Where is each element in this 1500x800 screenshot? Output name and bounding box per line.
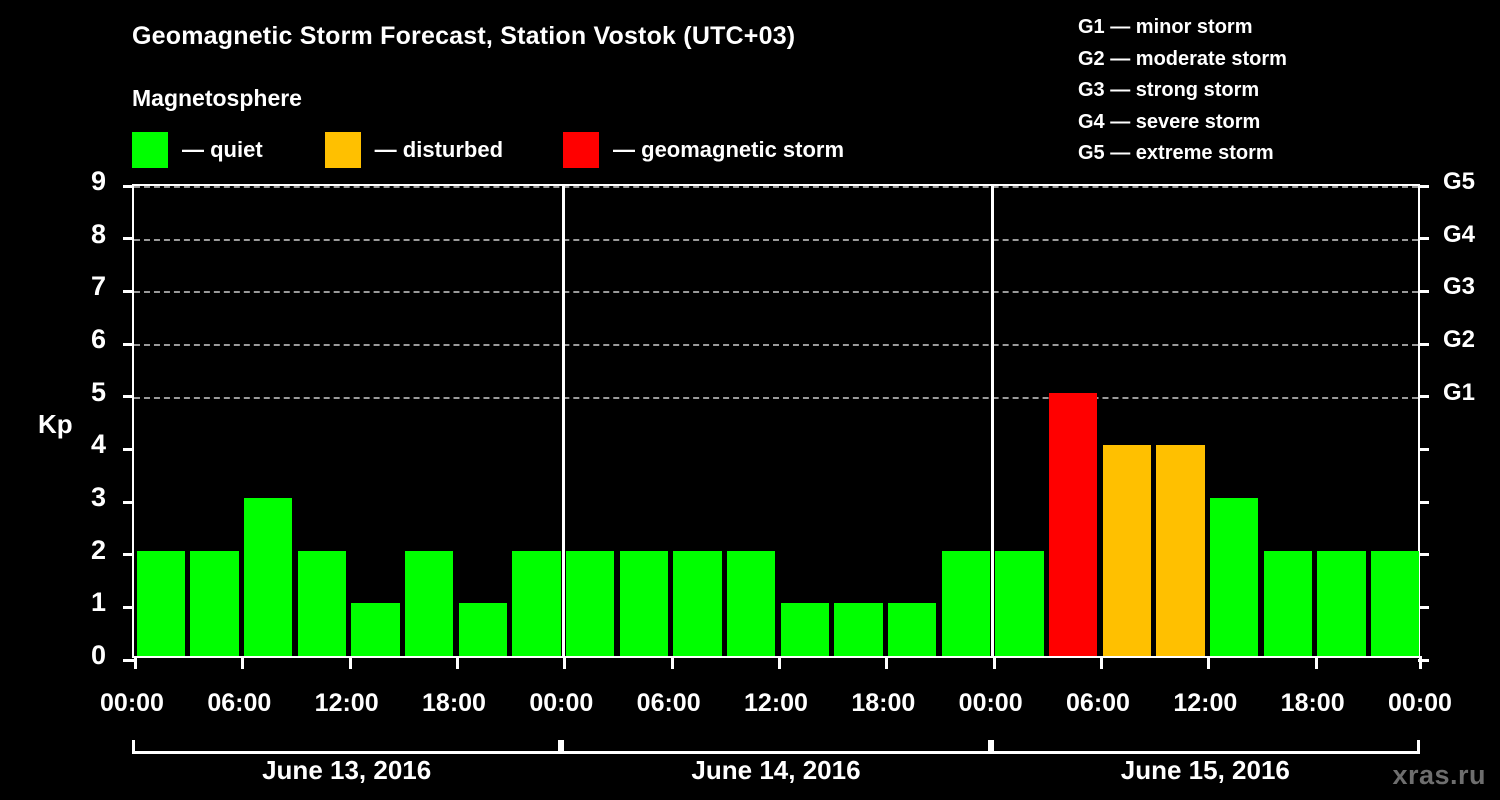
x-tick-10: [1207, 656, 1210, 669]
y-tick-right-3: [1418, 501, 1429, 504]
g-scale-item-g1: G1 — minor storm: [1078, 12, 1287, 44]
day-label-1: June 13, 2016: [132, 755, 561, 786]
bar: [459, 603, 508, 656]
bar: [942, 551, 991, 656]
y-tick-3: [123, 501, 134, 504]
y-tick-6: [123, 343, 134, 346]
bar: [1264, 551, 1313, 656]
g-scale-legend: G1 — minor storm G2 — moderate storm G3 …: [1078, 12, 1287, 170]
y-axis-label-7: 7: [60, 271, 106, 302]
x-tick-11: [1315, 656, 1318, 669]
color-legend: — quiet — disturbed — geomagnetic storm: [132, 131, 844, 169]
x-tick-1: [241, 656, 244, 669]
chart-root: Geomagnetic Storm Forecast, Station Vost…: [0, 0, 1500, 800]
x-tick-5: [671, 656, 674, 669]
bar: [512, 551, 561, 656]
g-scale-item-g5: G5 — extreme storm: [1078, 138, 1287, 170]
g-axis-label-g2: G2: [1443, 326, 1475, 354]
magnetosphere-label: Magnetosphere: [132, 85, 302, 112]
legend-label-disturbed: — disturbed: [375, 137, 503, 163]
bar: [1049, 393, 1098, 656]
bar: [781, 603, 830, 656]
y-tick-5: [123, 395, 134, 398]
bar: [351, 603, 400, 656]
legend-label-quiet: — quiet: [182, 137, 263, 163]
day-separator-1: [562, 186, 565, 656]
y-axis-label-1: 1: [60, 587, 106, 618]
bar: [727, 551, 776, 656]
x-tick-4: [563, 656, 566, 669]
y-tick-8: [123, 237, 134, 240]
y-tick-right-8: [1418, 237, 1429, 240]
y-axis-label-8: 8: [60, 219, 106, 250]
y-tick-right-7: [1418, 290, 1429, 293]
watermark: xras.ru: [1392, 760, 1486, 791]
g-scale-item-g2: G2 — moderate storm: [1078, 44, 1287, 76]
legend-item-storm: — geomagnetic storm: [563, 131, 844, 169]
bar: [1210, 498, 1259, 656]
storm-swatch: [563, 132, 599, 168]
g-scale-item-g4: G4 — severe storm: [1078, 107, 1287, 139]
bar: [1317, 551, 1366, 656]
bar-series: [134, 186, 1418, 656]
bar: [1371, 551, 1420, 656]
y-axis-label-6: 6: [60, 324, 106, 355]
g-axis-label-g1: G1: [1443, 379, 1475, 407]
bar: [137, 551, 186, 656]
bar: [1103, 445, 1152, 656]
bar: [1156, 445, 1205, 656]
y-tick-right-6: [1418, 343, 1429, 346]
bar: [995, 551, 1044, 656]
day-label-3: June 15, 2016: [991, 755, 1420, 786]
x-tick-9: [1100, 656, 1103, 669]
disturbed-swatch: [325, 132, 361, 168]
bar: [244, 498, 293, 656]
day-bracket-1: [132, 740, 561, 754]
x-tick-8: [993, 656, 996, 669]
y-tick-right-5: [1418, 395, 1429, 398]
y-tick-right-1: [1418, 606, 1429, 609]
y-tick-2: [123, 553, 134, 556]
g-axis-label-g3: G3: [1443, 273, 1475, 301]
legend-item-disturbed: — disturbed: [325, 131, 503, 169]
plot-area: [132, 184, 1420, 658]
y-axis-label-2: 2: [60, 535, 106, 566]
bar: [888, 603, 937, 656]
y-tick-right-2: [1418, 553, 1429, 556]
g-scale-item-g3: G3 — strong storm: [1078, 75, 1287, 107]
day-bracket-3: [991, 740, 1420, 754]
g-axis-label-g5: G5: [1443, 168, 1475, 196]
y-tick-right-9: [1418, 185, 1429, 188]
g-axis-label-g4: G4: [1443, 221, 1475, 249]
bar: [298, 551, 347, 656]
x-tick-6: [778, 656, 781, 669]
y-axis-label-3: 3: [60, 482, 106, 513]
x-tick-7: [885, 656, 888, 669]
legend-label-storm: — geomagnetic storm: [613, 137, 844, 163]
x-axis-label-12: 00:00: [1350, 689, 1490, 718]
y-tick-1: [123, 606, 134, 609]
y-tick-7: [123, 290, 134, 293]
bar: [190, 551, 239, 656]
y-axis-label-5: 5: [60, 377, 106, 408]
page-title: Geomagnetic Storm Forecast, Station Vost…: [132, 22, 795, 51]
y-tick-right-4: [1418, 448, 1429, 451]
y-axis-label-4: 4: [60, 429, 106, 460]
y-tick-0: [123, 659, 134, 662]
y-tick-9: [123, 185, 134, 188]
y-axis-label-9: 9: [60, 166, 106, 197]
x-tick-12: [1419, 656, 1422, 669]
day-label-2: June 14, 2016: [561, 755, 990, 786]
x-tick-3: [456, 656, 459, 669]
y-tick-4: [123, 448, 134, 451]
day-separator-2: [991, 186, 994, 656]
quiet-swatch: [132, 132, 168, 168]
x-tick-0: [134, 656, 137, 669]
y-axis-label-0: 0: [60, 640, 106, 671]
bar: [620, 551, 669, 656]
legend-item-quiet: — quiet: [132, 131, 263, 169]
bar: [834, 603, 883, 656]
bar: [405, 551, 454, 656]
bar: [673, 551, 722, 656]
day-bracket-2: [561, 740, 990, 754]
x-tick-2: [349, 656, 352, 669]
bar: [566, 551, 615, 656]
